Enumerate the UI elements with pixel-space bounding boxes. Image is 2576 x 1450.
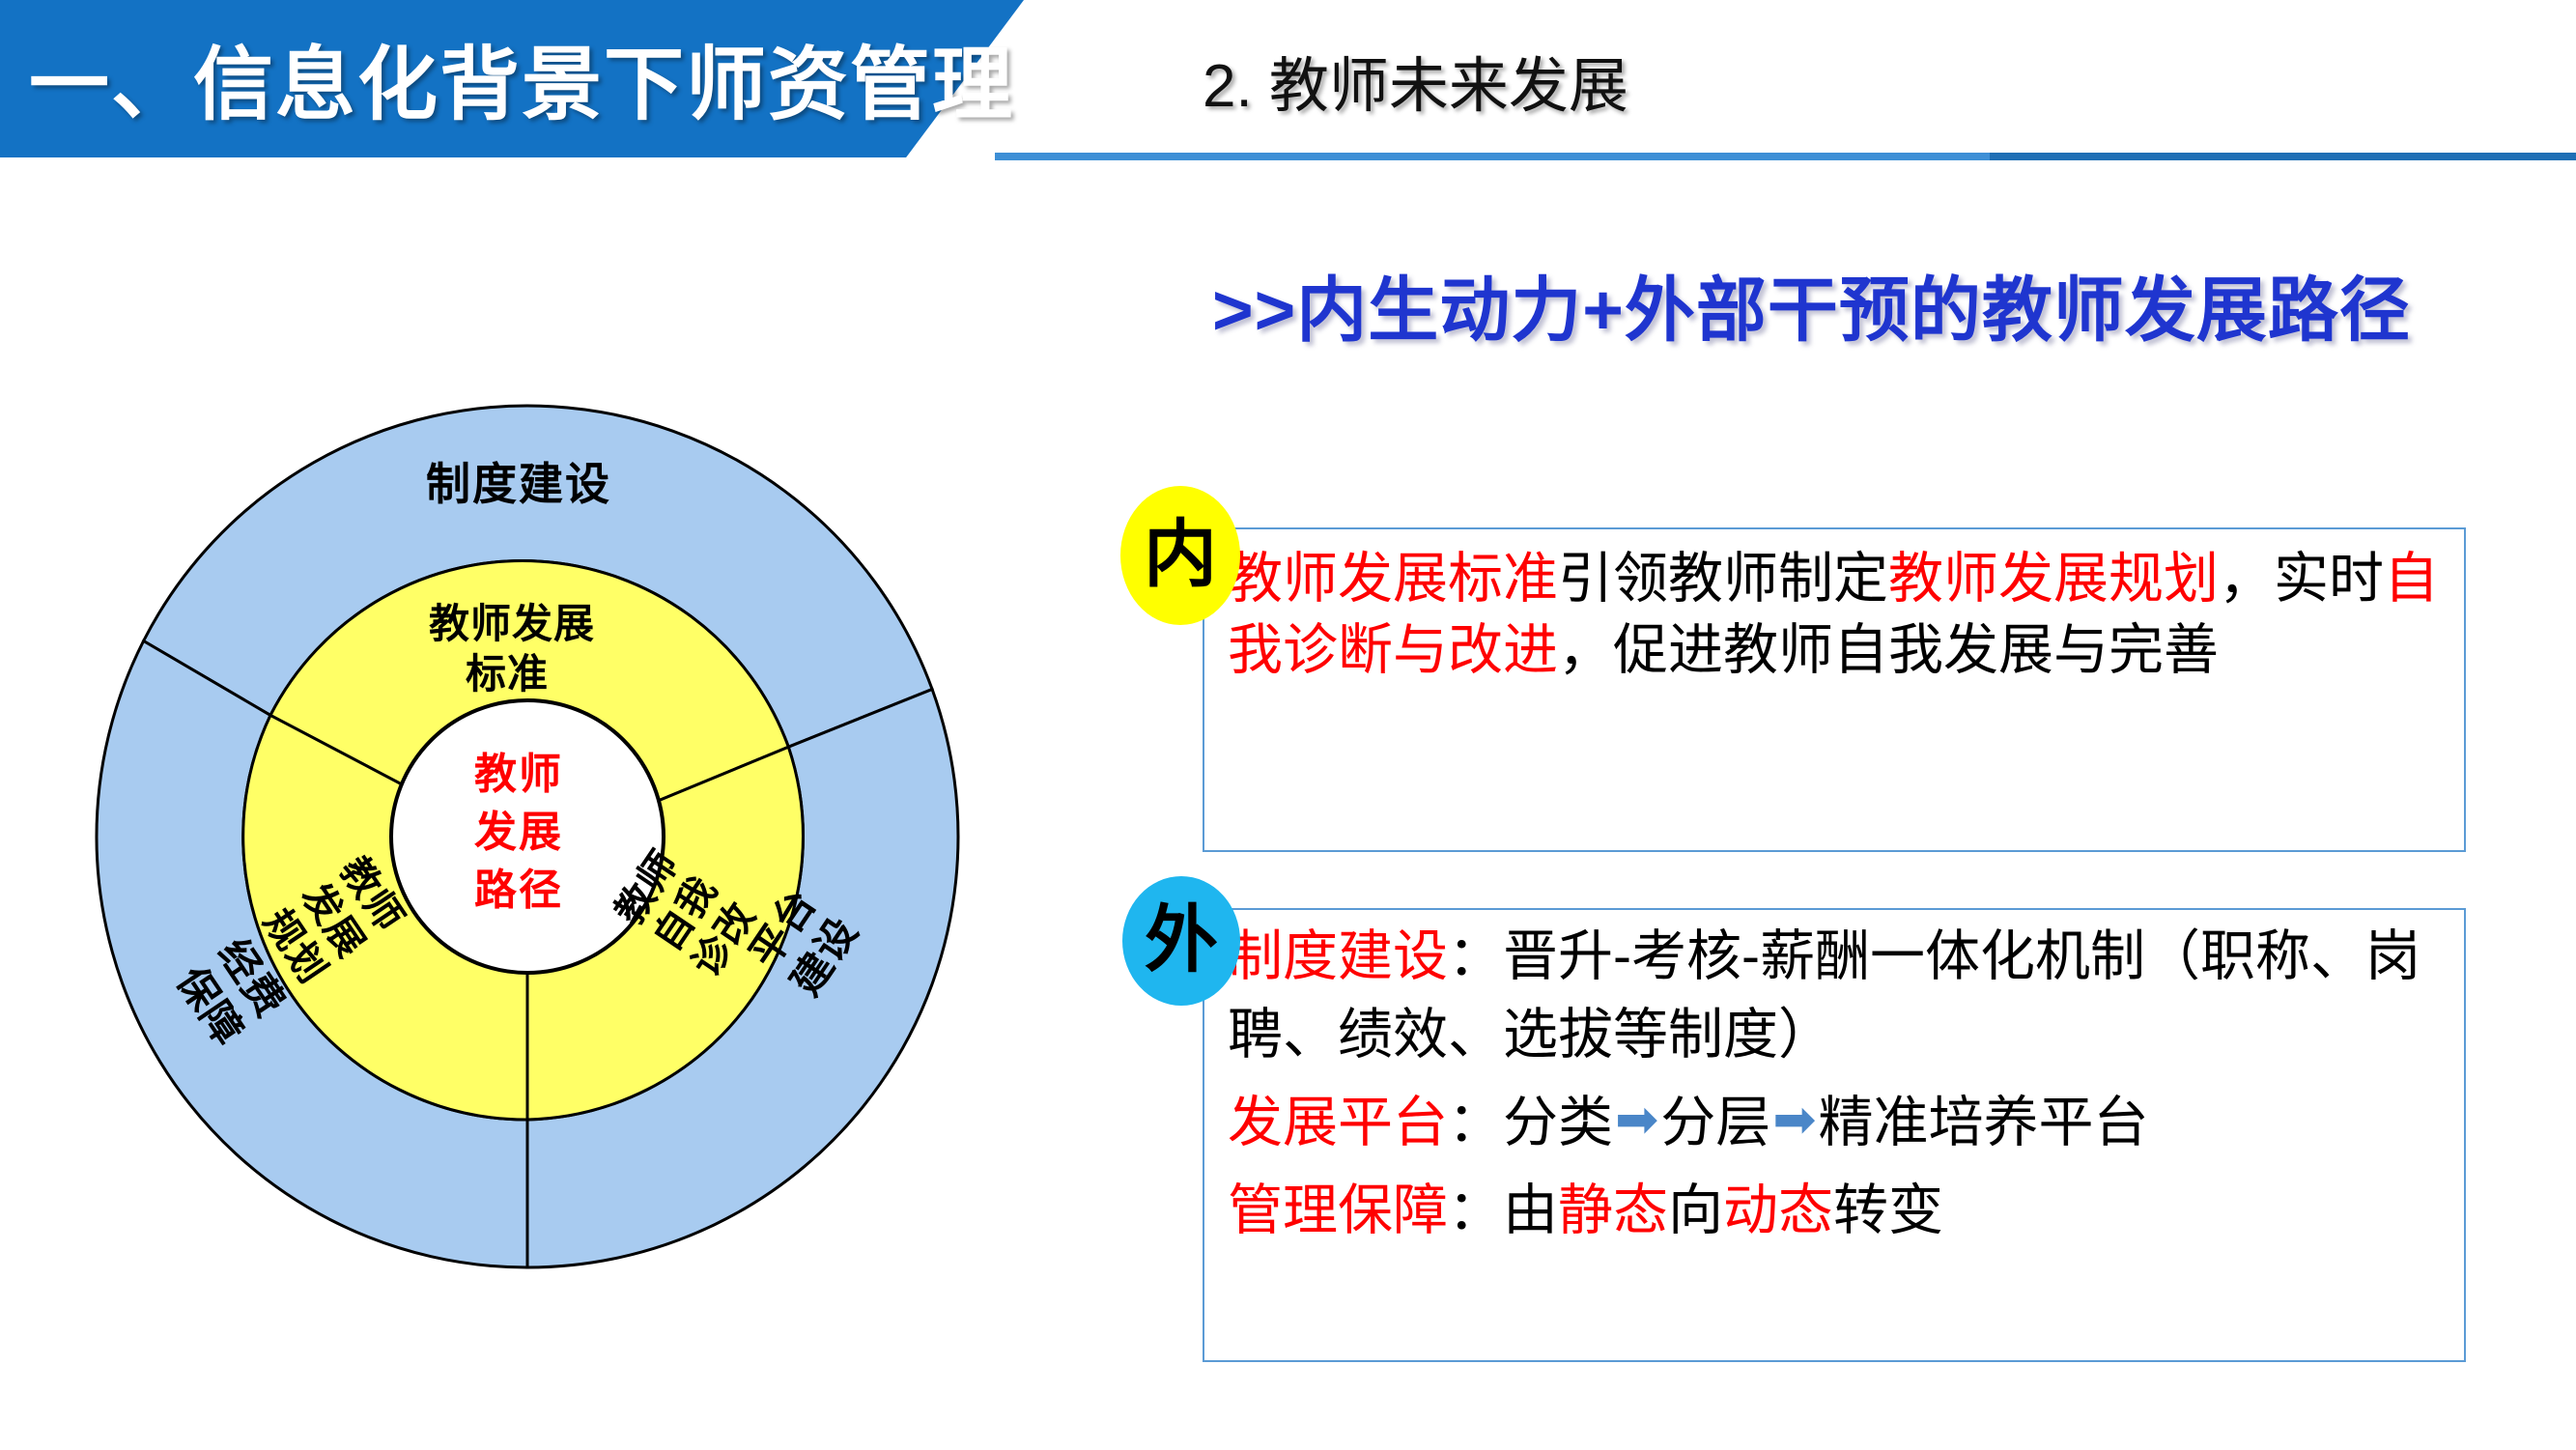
page-title: 一、信息化背景下师资管理 (29, 19, 985, 135)
text-segment: 向 (1668, 1180, 1723, 1241)
paragraph: 管理保障：由静态向动态转变 (1228, 1172, 2443, 1250)
text-segment: 引领教师制定 (1558, 548, 1888, 610)
internal-motivation-body: 教师发展标准引领教师制定教师发展规划，实时自我诊断与改进，促进教师自我发展与完善 (1204, 529, 2464, 697)
text-segment: 精准培养平台 (1819, 1092, 2149, 1153)
teacher-development-path-diagram: 制度建设 教师发展 标准 教师 发展 路径 经费 保障 教师 发展 规划 平台 (89, 398, 977, 1287)
text-segment: 静态 (1558, 1180, 1668, 1241)
text-segment: 教师发展规划 (1888, 548, 2219, 610)
label-middle-standard-line2: 标准 (466, 651, 549, 697)
slide-canvas: 一、信息化背景下师资管理 2. 教师未来发展 >>内生动力+外部干预的教师发展路… (0, 0, 2576, 1450)
paragraph: 制度建设：晋升-考核-薪酬一体化机制（职称、岗聘、绩效、选拔等制度） (1228, 918, 2443, 1074)
header-divider-rule-accent (995, 153, 1990, 160)
label-middle-standard-line1: 教师发展 (429, 601, 595, 646)
text-segment: ，实时 (2219, 548, 2384, 610)
text-segment: 转变 (1833, 1180, 1943, 1241)
label-core-line1: 教师 (474, 751, 563, 798)
right-arrow-icon: ➡ (1772, 1083, 1816, 1157)
badge-internal: 内 (1120, 486, 1240, 625)
text-segment: 管理保障 (1228, 1180, 1448, 1241)
page-subtitle: 2. 教师未来发展 (1203, 37, 1628, 124)
internal-motivation-box: 教师发展标准引领教师制定教师发展规划，实时自我诊断与改进，促进教师自我发展与完善 (1203, 527, 2466, 852)
text-segment: 发展平台 (1228, 1092, 1448, 1153)
text-segment: ：由 (1448, 1180, 1558, 1241)
external-intervention-box: 制度建设：晋升-考核-薪酬一体化机制（职称、岗聘、绩效、选拔等制度）发展平台：分… (1203, 908, 2466, 1362)
badge-external: 外 (1122, 876, 1240, 1006)
right-arrow-icon: ➡ (1615, 1083, 1658, 1157)
paragraph: 发展平台：分类➡分层➡精准培养平台 (1228, 1084, 2443, 1162)
external-intervention-body: 制度建设：晋升-考核-薪酬一体化机制（职称、岗聘、绩效、选拔等制度）发展平台：分… (1204, 910, 2464, 1267)
text-segment: 分层 (1660, 1092, 1770, 1153)
text-segment: 教师发展标准 (1228, 548, 1558, 610)
label-core-line3: 路径 (474, 867, 563, 914)
label-core-line2: 发展 (474, 809, 563, 856)
label-outer-institution: 制度建设 (426, 459, 611, 509)
text-segment: 制度建设 (1228, 925, 1448, 987)
text-segment: ：分类 (1448, 1092, 1613, 1153)
headline-text: >>内生动力+外部干预的教师发展路径 (1212, 253, 2564, 355)
text-segment: 动态 (1723, 1180, 1833, 1241)
text-segment: ，促进教师自我发展与完善 (1558, 619, 2219, 681)
paragraph: 教师发展标准引领教师制定教师发展规划，实时自我诊断与改进，促进教师自我发展与完善 (1228, 543, 2443, 686)
